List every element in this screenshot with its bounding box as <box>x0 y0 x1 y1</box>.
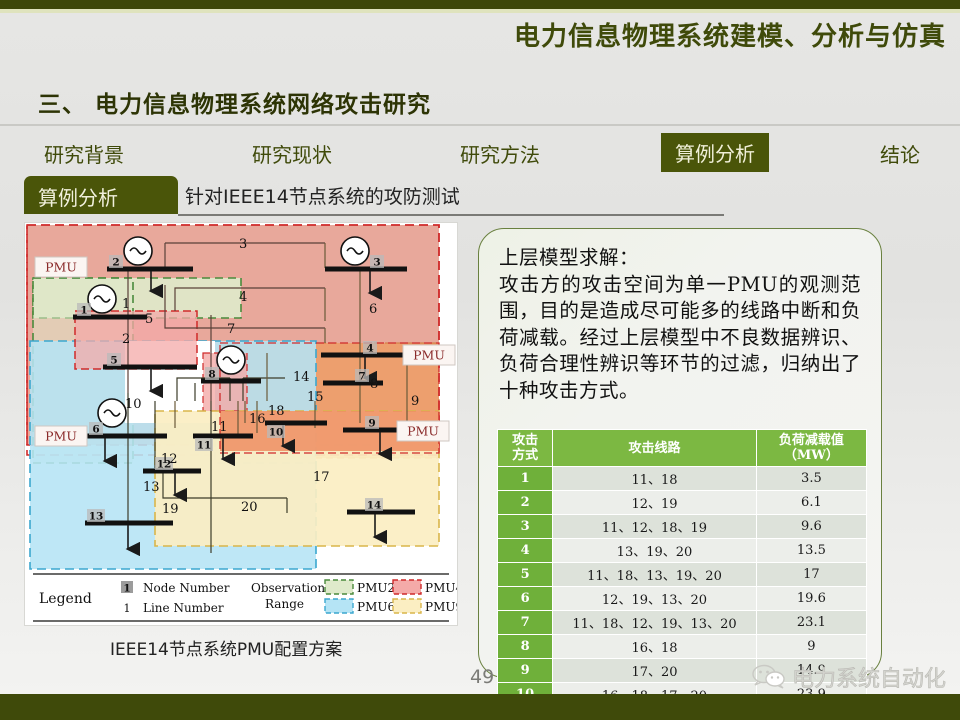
cell-index: 2 <box>498 491 553 515</box>
legend-line-sample: 1 <box>124 602 131 615</box>
pmu-tag-node6: PMU <box>35 426 87 446</box>
page-title: 电力信息物理系统建模、分析与仿真 <box>514 16 946 53</box>
diagram-svg: 2 1 5 3 4 8 7 6 11 10 9 12 13 14 3 4 7 1 <box>25 223 457 625</box>
table-row[interactable]: 612、19、13、2019.6 <box>498 587 867 611</box>
legend-swatch-pmu9 <box>393 599 421 613</box>
legend-swatch-pmu9-label: PMU9 <box>425 600 457 614</box>
node-tag-1: 1 <box>77 303 91 317</box>
cell-index: 3 <box>498 515 553 539</box>
line-num-17: 17 <box>313 470 330 485</box>
th-attack-route: 攻击线路 <box>553 430 757 467</box>
node-tag-9: 9 <box>365 416 379 430</box>
callout-body: 攻击方的攻击空间为单一PMU的观测范围，目的是造成尽可能多的线路中断和负荷减载。… <box>499 272 861 405</box>
cell-index: 5 <box>498 563 553 587</box>
legend-title: Legend <box>39 591 92 607</box>
svg-text:PMU: PMU <box>45 260 77 275</box>
legend-swatch-pmu4 <box>393 580 421 594</box>
subsection-chip: 算例分析 <box>24 176 178 214</box>
cell-index: 4 <box>498 539 553 563</box>
cell-index: 7 <box>498 611 553 635</box>
node-tag-13: 13 <box>87 509 105 523</box>
svg-text:5: 5 <box>110 355 117 367</box>
cell-route: 16、18 <box>553 635 757 659</box>
header-divider <box>0 124 960 126</box>
th-load-shed-l1: 负荷减载值 <box>759 433 864 448</box>
line-num-4: 4 <box>239 290 247 305</box>
cell-route: 11、12、18、19 <box>553 515 757 539</box>
tab-research-status[interactable]: 研究现状 <box>244 136 340 171</box>
node-tag-14: 14 <box>365 498 383 512</box>
line-num-7: 7 <box>227 322 235 337</box>
cell-value: 17 <box>756 563 866 587</box>
cell-index: 1 <box>498 467 553 491</box>
svg-text:10: 10 <box>269 427 284 439</box>
table-row[interactable]: 711、18、12、19、13、2023.1 <box>498 611 867 635</box>
node-tag-11: 11 <box>195 438 213 452</box>
legend-line-number-label: Line Number <box>143 601 224 615</box>
legend-swatch-pmu2 <box>325 580 353 594</box>
svg-text:6: 6 <box>92 424 99 436</box>
th-load-shed: 负荷减载值 （MW） <box>756 430 866 467</box>
generator-node8 <box>217 346 245 374</box>
svg-text:7: 7 <box>358 371 365 383</box>
ieee14-pmu-diagram: 2 1 5 3 4 8 7 6 11 10 9 12 13 14 3 4 7 1 <box>24 222 458 626</box>
subsection-headline: 针对IEEE14节点系统的攻防测试 <box>185 182 460 209</box>
node-tag-5: 5 <box>107 353 121 367</box>
node-tag-4: 4 <box>363 341 377 355</box>
legend-swatch-pmu6 <box>325 599 353 613</box>
tab-research-background[interactable]: 研究背景 <box>36 136 132 171</box>
tab-research-method[interactable]: 研究方法 <box>452 136 548 171</box>
th-attack-mode-l2: 方式 <box>500 448 550 463</box>
legend-node-sample: 1 <box>123 583 130 595</box>
callout-text: 上层模型求解： 攻击方的攻击空间为单一PMU的观测范围，目的是造成尽可能多的线路… <box>499 245 861 404</box>
legend-node-number-label: Node Number <box>143 581 230 595</box>
line-num-9: 9 <box>411 394 419 409</box>
diagram-legend: Legend 1 Node Number 1 Line Number Obser… <box>25 572 457 625</box>
legend-observation-line2: Range <box>265 597 304 611</box>
svg-text:PMU: PMU <box>45 429 77 444</box>
cell-route: 13、19、20 <box>553 539 757 563</box>
cell-route: 11、18 <box>553 467 757 491</box>
cell-route: 11、18、13、19、20 <box>553 563 757 587</box>
line-num-15: 15 <box>307 390 324 405</box>
cell-value: 3.5 <box>756 467 866 491</box>
table-row[interactable]: 413、19、2013.5 <box>498 539 867 563</box>
svg-text:1: 1 <box>80 305 87 317</box>
section-title: 三、 电力信息物理系统网络攻击研究 <box>38 85 431 119</box>
svg-text:11: 11 <box>197 440 212 452</box>
cell-index: 6 <box>498 587 553 611</box>
nav-tabs: 研究背景 研究现状 研究方法 算例分析 结论 <box>0 130 960 172</box>
node-tag-8: 8 <box>205 367 219 381</box>
line-num-12: 12 <box>161 452 178 467</box>
svg-text:PMU: PMU <box>407 424 439 439</box>
watermark-text: 电力系统自动化 <box>792 661 946 693</box>
diagram-caption: IEEE14节点系统PMU配置方案 <box>110 635 342 660</box>
slide-root: 电力信息物理系统建模、分析与仿真 三、 电力信息物理系统网络攻击研究 研究背景 … <box>0 0 960 720</box>
cell-value: 19.6 <box>756 587 866 611</box>
tab-conclusion[interactable]: 结论 <box>872 136 928 171</box>
node-tag-6: 6 <box>89 422 103 436</box>
legend-swatch-pmu6-label: PMU6 <box>357 600 395 614</box>
line-num-2: 2 <box>122 332 130 347</box>
legend-swatch-pmu4-label: PMU4 <box>425 581 457 595</box>
cell-value: 9.6 <box>756 515 866 539</box>
pmu-tag-node9: PMU <box>397 421 449 441</box>
cell-value: 23.1 <box>756 611 866 635</box>
callout-heading: 上层模型求解： <box>499 245 861 272</box>
subsection-divider <box>178 214 724 216</box>
th-attack-mode-l1: 攻击 <box>500 433 550 448</box>
line-num-10: 10 <box>125 397 142 412</box>
cell-route: 17、20 <box>553 659 757 683</box>
generator-node1 <box>88 285 116 313</box>
region-pmu9-a <box>75 311 197 369</box>
cell-route: 12、19、13、20 <box>553 587 757 611</box>
table-row[interactable]: 212、196.1 <box>498 491 867 515</box>
svg-text:3: 3 <box>373 257 380 269</box>
line-num-3: 3 <box>239 237 247 252</box>
svg-text:13: 13 <box>89 511 104 523</box>
svg-text:4: 4 <box>366 343 373 355</box>
svg-text:9: 9 <box>368 418 375 430</box>
generator-node3 <box>341 237 369 265</box>
table-row[interactable]: 111、183.5 <box>498 467 867 491</box>
line-num-1: 1 <box>122 297 130 312</box>
th-attack-mode: 攻击 方式 <box>498 430 553 467</box>
line-num-6: 6 <box>369 302 377 317</box>
line-num-19: 19 <box>162 502 179 517</box>
cell-route: 12、19 <box>553 491 757 515</box>
bottom-accent-bar <box>0 694 960 720</box>
legend-observation-line1: Observation <box>251 581 325 595</box>
svg-text:2: 2 <box>112 257 119 269</box>
cell-route: 11、18、12、19、13、20 <box>553 611 757 635</box>
line-num-14: 14 <box>293 370 310 385</box>
top-accent-bar <box>0 0 960 9</box>
cell-value: 6.1 <box>756 491 866 515</box>
pmu-tag-node4: PMU <box>403 345 455 365</box>
pmu-tag-node2: PMU <box>35 257 87 277</box>
table-row[interactable]: 311、12、18、199.6 <box>498 515 867 539</box>
table-row[interactable]: 511、18、13、19、2017 <box>498 563 867 587</box>
node-tag-3: 3 <box>370 255 384 269</box>
generator-node2 <box>124 237 152 265</box>
line-num-18: 18 <box>268 404 285 419</box>
svg-text:14: 14 <box>367 500 382 512</box>
node-tag-10: 10 <box>267 425 285 439</box>
line-num-11: 11 <box>211 420 228 435</box>
subsection-chip-label: 算例分析 <box>38 182 118 211</box>
top-accent-bar-light <box>0 9 960 13</box>
line-num-8: 8 <box>370 377 378 392</box>
legend-swatch-pmu2-label: PMU2 <box>357 581 395 595</box>
line-num-16: 16 <box>249 412 266 427</box>
node-tag-2: 2 <box>109 255 123 269</box>
svg-text:8: 8 <box>208 369 215 381</box>
cell-index: 8 <box>498 635 553 659</box>
table-header-row: 攻击 方式 攻击线路 负荷减载值 （MW） <box>498 430 867 467</box>
node-tag-7: 7 <box>355 369 369 383</box>
th-load-shed-l2: （MW） <box>759 448 864 463</box>
watermark: 电力系统自动化 <box>752 660 946 694</box>
tab-case-analysis[interactable]: 算例分析 <box>661 133 769 172</box>
page-number: 49 <box>470 666 494 688</box>
cell-index: 9 <box>498 659 553 683</box>
cell-value: 13.5 <box>756 539 866 563</box>
wechat-icon <box>752 664 786 690</box>
svg-text:PMU: PMU <box>413 348 445 363</box>
line-num-13: 13 <box>143 480 160 495</box>
table-row[interactable]: 816、189 <box>498 635 867 659</box>
cell-value: 9 <box>756 635 866 659</box>
line-num-5: 5 <box>145 312 153 327</box>
line-num-20: 20 <box>241 500 258 515</box>
